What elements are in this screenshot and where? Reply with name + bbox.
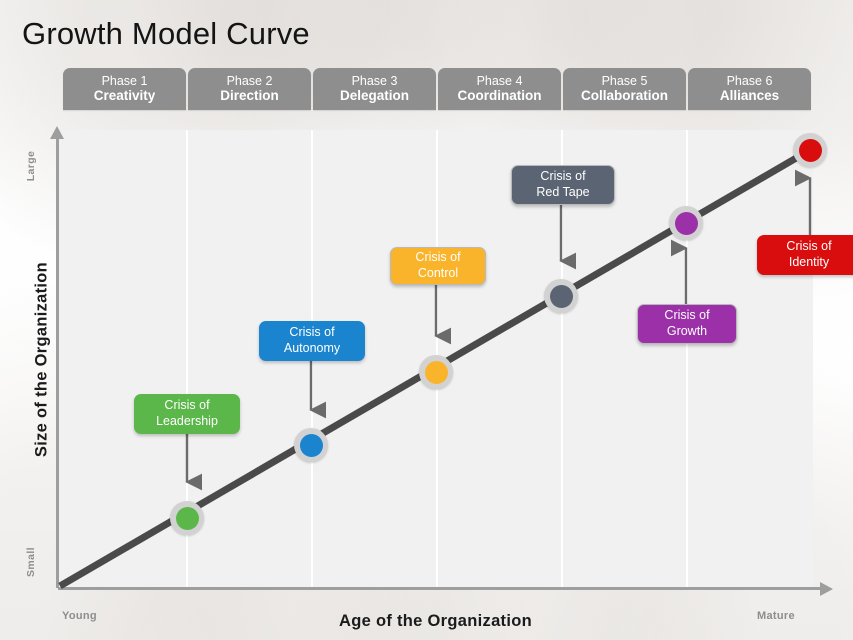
marker-dot [799,139,822,162]
callout-line-2: Control [418,266,458,282]
phase-name: Direction [220,89,279,103]
marker-dot [550,285,573,308]
callout-line-2: Identity [789,255,829,271]
callout-crisis-of-identity[interactable]: Crisis of Identity [757,235,853,275]
callout-crisis-of-red-tape[interactable]: Crisis of Red Tape [511,165,615,205]
callout-crisis-of-autonomy[interactable]: Crisis of Autonomy [259,321,365,361]
phase-name: Coordination [458,89,542,103]
phase-tab-6[interactable]: Phase 6 Alliances [688,68,811,110]
phase-number: Phase 6 [727,75,773,88]
data-point-marker-3[interactable] [419,355,453,389]
callout-line-2: Leadership [156,414,218,430]
y-axis-line [56,136,59,588]
data-point-marker-2[interactable] [294,428,328,462]
callout-line-1: Crisis of [664,308,709,324]
phase-number: Phase 3 [352,75,398,88]
phase-name: Alliances [720,89,779,103]
marker-dot [176,507,199,530]
callout-crisis-of-leadership[interactable]: Crisis of Leadership [134,394,240,434]
phase-tab-5[interactable]: Phase 5 Collaboration [563,68,686,110]
x-axis-arrow-icon [820,582,833,596]
callout-crisis-of-control[interactable]: Crisis of Control [390,247,486,285]
phase-tab-4[interactable]: Phase 4 Coordination [438,68,561,110]
y-axis-title: Size of the Organization [33,240,52,480]
data-point-marker-6[interactable] [793,133,827,167]
callout-line-1: Crisis of [164,398,209,414]
phase-tab-3[interactable]: Phase 3 Delegation [313,68,436,110]
phase-name: Delegation [340,89,409,103]
marker-dot [675,212,698,235]
callout-line-1: Crisis of [786,239,831,255]
data-point-marker-5[interactable] [669,206,703,240]
x-axis-line [58,587,823,590]
phase-tab-1[interactable]: Phase 1 Creativity [63,68,186,110]
phase-name: Collaboration [581,89,668,103]
data-point-marker-1[interactable] [170,501,204,535]
x-axis-tick-young: Young [62,610,97,622]
callout-crisis-of-growth[interactable]: Crisis of Growth [637,304,737,344]
phase-number: Phase 2 [227,75,273,88]
marker-dot [300,434,323,457]
y-axis-tick-large: Large [25,144,37,188]
slide-canvas: Growth Model Curve Phase 1 Creativity Ph… [0,0,853,640]
data-point-marker-4[interactable] [544,279,578,313]
gridline-5 [686,130,688,588]
y-axis-arrow-icon [50,126,64,139]
phase-number: Phase 1 [102,75,148,88]
callout-line-2: Autonomy [284,341,340,357]
phase-number: Phase 4 [477,75,523,88]
phase-header-bar: Phase 1 Creativity Phase 2 Direction Pha… [63,68,811,110]
y-axis-tick-small: Small [25,540,37,584]
phase-number: Phase 5 [602,75,648,88]
callout-line-1: Crisis of [415,250,460,266]
marker-dot [425,361,448,384]
page-title: Growth Model Curve [22,16,310,52]
phase-tab-2[interactable]: Phase 2 Direction [188,68,311,110]
phase-name: Creativity [94,89,156,103]
callout-line-2: Red Tape [536,185,589,201]
callout-line-2: Growth [667,324,707,340]
callout-line-1: Crisis of [540,169,585,185]
x-axis-title: Age of the Organization [58,612,813,631]
x-axis-tick-mature: Mature [757,610,795,622]
callout-line-1: Crisis of [289,325,334,341]
